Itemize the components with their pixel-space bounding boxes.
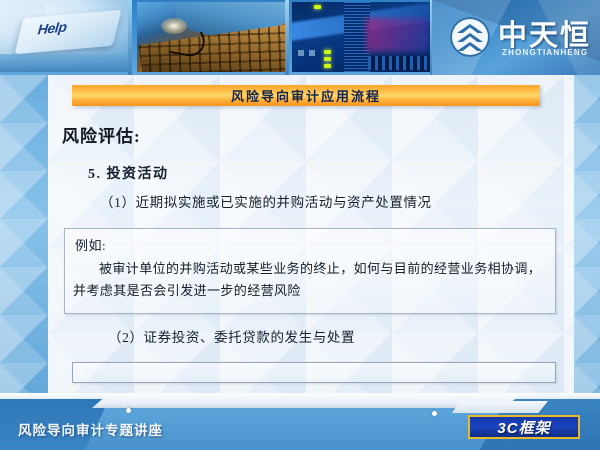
chevron-circle-emblem	[450, 17, 490, 57]
empty-content-box	[72, 362, 556, 383]
logo-english-name: ZHONGTIANHENG	[502, 48, 588, 57]
slide-footer: 风险导向审计专题讲座 3C框架	[0, 393, 600, 450]
presentation-slide: Help	[0, 0, 600, 450]
header-seam-1	[128, 0, 132, 75]
circuit-led	[324, 50, 331, 54]
footer-title: 风险导向审计专题讲座	[18, 419, 163, 439]
circuit-board-photo	[292, 2, 434, 72]
footer-dot	[126, 408, 131, 413]
circuit-magenta-glow	[366, 18, 430, 52]
list-item-sub-1: （1）近期拟实施或已实施的并购活动与资产处置情况	[100, 191, 432, 211]
section-heading: 风险评估:	[62, 122, 141, 147]
list-item-number: 5. 投资活动	[88, 163, 169, 183]
framework-badge: 3C框架	[468, 415, 580, 439]
slide-header-banner: Help	[0, 0, 600, 75]
slide-title-text: 风险导向审计应用流程	[231, 86, 381, 105]
example-body-text: 被审计单位的并购活动或某些业务的终止，如何与目前的经营业务相协调，并考虑其是否会…	[73, 258, 549, 302]
circuit-pin-row	[368, 56, 432, 70]
footer-white-band-2	[452, 401, 548, 413]
header-seam-2	[285, 0, 289, 75]
footer-dot	[432, 411, 437, 416]
company-logo-tile: 中天恒 ZHONGTIANHENG	[432, 0, 600, 75]
chevron-shape	[457, 33, 483, 42]
photo-bottom-band	[0, 54, 128, 72]
example-callout-box: 例如: 被审计单位的并购活动或某些业务的终止，如何与目前的经营业务相协调，并考虑…	[64, 228, 556, 314]
chevron-shape	[457, 42, 483, 51]
help-key-label: Help	[37, 19, 68, 38]
list-item-sub-2: （2）证券投资、委托贷款的发生与处置	[108, 326, 355, 346]
chevron-shape	[457, 24, 483, 33]
left-decor-border	[0, 75, 48, 393]
laptop-keyboard-photo	[137, 2, 285, 72]
circuit-pad	[309, 50, 315, 56]
right-decor-border	[574, 75, 600, 393]
example-label: 例如:	[75, 235, 106, 254]
circuit-pad	[298, 50, 304, 56]
framework-badge-text: 3C框架	[497, 417, 550, 438]
slide-title-bar: 风险导向审计应用流程	[72, 85, 540, 106]
circuit-led	[314, 5, 321, 9]
help-key-photo: Help	[0, 0, 128, 72]
circuit-led	[324, 64, 331, 68]
circuit-led	[324, 57, 331, 61]
